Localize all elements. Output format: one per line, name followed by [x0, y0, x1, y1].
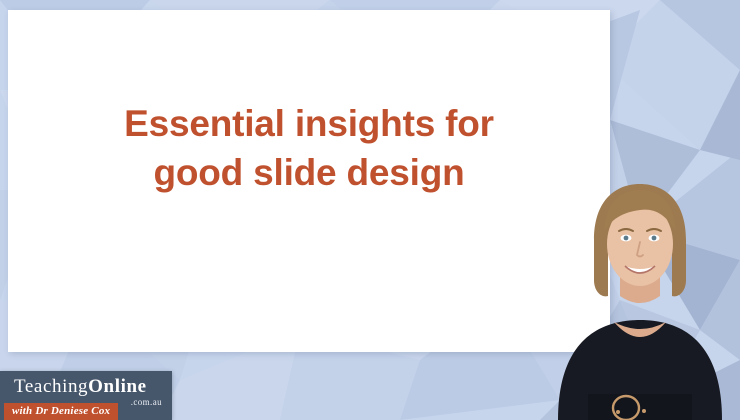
logo-domain: .com.au: [131, 397, 162, 407]
logo-tagline: with Dr Deniese Cox: [4, 403, 118, 420]
presentation-slide: Essential insights for good slide design: [8, 10, 610, 352]
logo-word-teaching: Teaching: [14, 376, 88, 397]
brand-logo: TeachingOnline .com.au with Dr Deniese C…: [0, 371, 172, 420]
presenter-figure: [540, 180, 740, 420]
slide-title: Essential insights for good slide design: [8, 100, 610, 198]
logo-word-online: Online: [88, 376, 147, 397]
logo-wordmark: TeachingOnline: [14, 376, 147, 398]
video-frame: Essential insights for good slide design: [0, 0, 740, 420]
